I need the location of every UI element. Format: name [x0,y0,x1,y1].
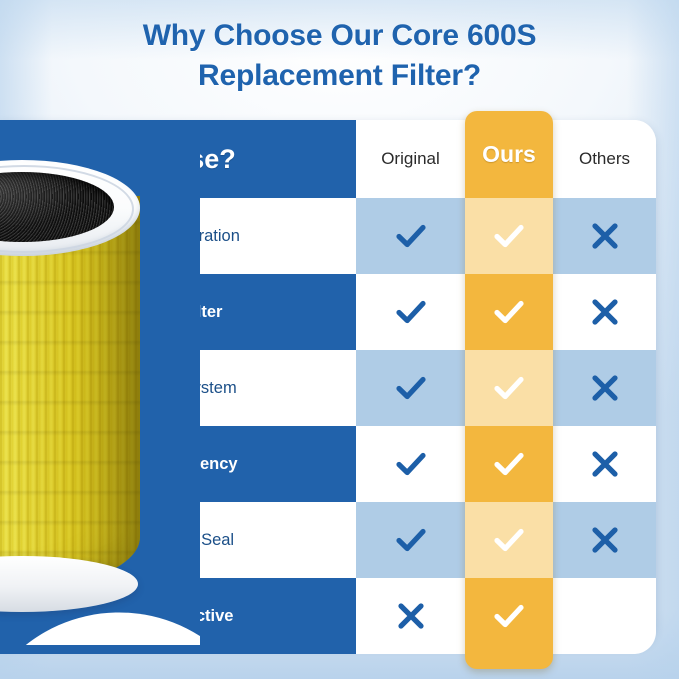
cell-others [553,578,656,654]
column-header-original: Original [356,120,465,198]
cell-ours [465,198,553,274]
check-icon [394,523,428,557]
cell-ours [465,502,553,578]
check-icon [492,371,526,405]
cell-original [356,502,465,578]
cell-original [356,350,465,426]
cell-others [553,426,656,502]
check-icon [492,447,526,481]
ours-column-highlight: Ours [465,111,553,669]
cross-icon [588,219,622,253]
check-icon [492,219,526,253]
page-title-line-1: Why Choose Our Core 600S [0,16,679,56]
cell-original [356,426,465,502]
cell-ours [465,426,553,502]
cell-original [356,578,465,654]
product-image [0,120,200,645]
check-icon [492,599,526,633]
cell-others [553,198,656,274]
cross-icon [588,295,622,329]
page-title-line-2: Replacement Filter? [0,56,679,96]
cross-icon [394,599,428,633]
check-icon [394,371,428,405]
cell-original [356,198,465,274]
cell-ours [465,274,553,350]
check-icon [394,295,428,329]
infographic-page: Why Choose Our Core 600S Replacement Fil… [0,0,679,679]
air-filter-illustration [0,152,140,622]
cross-icon [588,371,622,405]
column-header-ours: Ours [465,111,553,198]
column-header-others: Others [553,120,656,198]
check-icon [492,523,526,557]
cross-icon [588,447,622,481]
cell-others [553,502,656,578]
check-icon [492,295,526,329]
check-icon [394,219,428,253]
cell-others [553,274,656,350]
cell-original [356,274,465,350]
cell-others [553,350,656,426]
check-icon [394,447,428,481]
cell-ours [465,350,553,426]
page-title: Why Choose Our Core 600S Replacement Fil… [0,16,679,96]
cross-icon [588,523,622,557]
cell-ours [465,578,553,654]
